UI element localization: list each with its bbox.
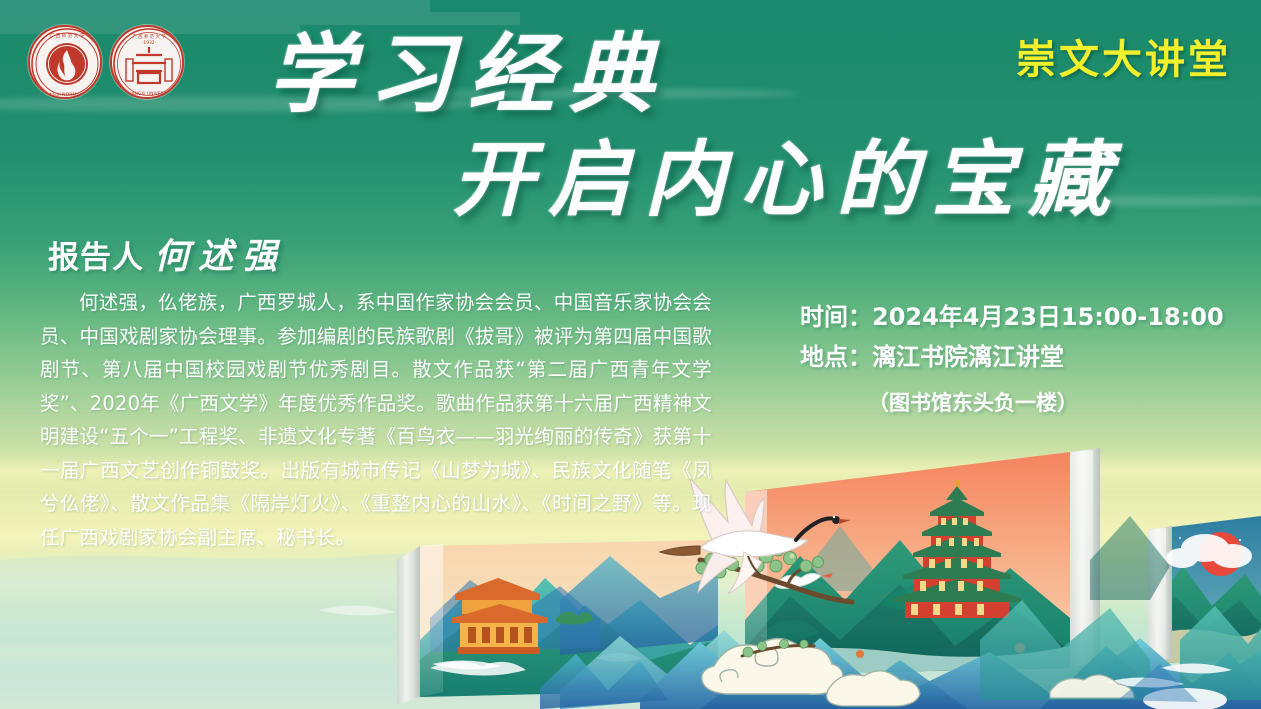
event-info-block: 时间：2024年4月23日15:00-18:00 地点：漓江书院漓江讲堂 （图书…: [800, 297, 1224, 423]
book-left: [397, 540, 718, 705]
svg-text:广 西 师 范 大 学: 广 西 师 范 大 学: [132, 33, 166, 40]
pine-branch-main: [696, 544, 852, 602]
poster-canvas: 广 西 师 范 大 学 GUANGXI NORMAL UNIV: [0, 0, 1261, 709]
water-stream: [318, 605, 1232, 687]
red-sun: [1199, 532, 1243, 576]
pine-branch-small: [742, 640, 814, 658]
svg-text:广 西 师 范 大 学: 广 西 师 范 大 学: [50, 32, 85, 39]
university-seal-normal-icon: 广 西 师 范 大 学 ·1932· GUANGXI UNIVERSITY: [110, 25, 184, 99]
mountain-range: [980, 600, 1150, 700]
background-haze-band: [0, 560, 1261, 610]
svg-text:GUANGXI UNIVERSITY: GUANGXI UNIVERSITY: [125, 91, 173, 97]
mountain-range: [1118, 664, 1198, 702]
headline-line-2: 开启内心的宝藏: [452, 140, 1261, 222]
svg-text:·1932·: ·1932·: [142, 40, 156, 46]
mountain-range: [560, 630, 788, 709]
background-wisp: [0, 0, 430, 12]
event-time: 时间：2024年4月23日15:00-18:00: [800, 297, 1224, 337]
speaker-label: 报告人: [48, 232, 144, 277]
mountain-range: [1180, 606, 1261, 700]
speaker-line: 报告人 何述强: [48, 228, 286, 279]
university-seal-flame-icon: 广 西 师 范 大 学 GUANGXI NORMAL UNIV: [28, 25, 102, 99]
logo-group: 广 西 师 范 大 学 GUANGXI NORMAL UNIV: [28, 25, 184, 99]
crane-small-in-book: [775, 573, 833, 589]
mountain-range: [700, 656, 968, 709]
event-place: 地点：漓江书院漓江讲堂: [800, 337, 1224, 377]
auspicious-cloud-right: [1166, 534, 1252, 568]
speaker-biography: 何述强，仫佬族，广西罗城人，系中国作家协会会员、中国音乐家协会会员、中国戏剧家协…: [40, 286, 712, 554]
background-gold-band: [0, 640, 1261, 670]
svg-text:GUANGXI NORMAL UNIV: GUANGXI NORMAL UNIV: [39, 92, 96, 98]
mountain-range: [640, 638, 1261, 709]
event-place-detail: （图书馆东头负一楼）: [868, 383, 1224, 423]
book-center: [745, 448, 1100, 675]
far-hill: [0, 554, 660, 709]
speaker-name: 何述强: [154, 228, 286, 279]
mountain-range: [540, 654, 668, 709]
pagoda-red: [893, 480, 1021, 618]
corner-title: 崇文大讲堂: [1016, 27, 1231, 85]
mountain-range: [1090, 516, 1170, 600]
background-wisp: [0, 12, 520, 25]
book-right: [1148, 516, 1261, 664]
mountain-range: [1040, 646, 1261, 709]
auspicious-clouds-bottom: [702, 638, 1227, 709]
temple-golden: [452, 578, 548, 654]
